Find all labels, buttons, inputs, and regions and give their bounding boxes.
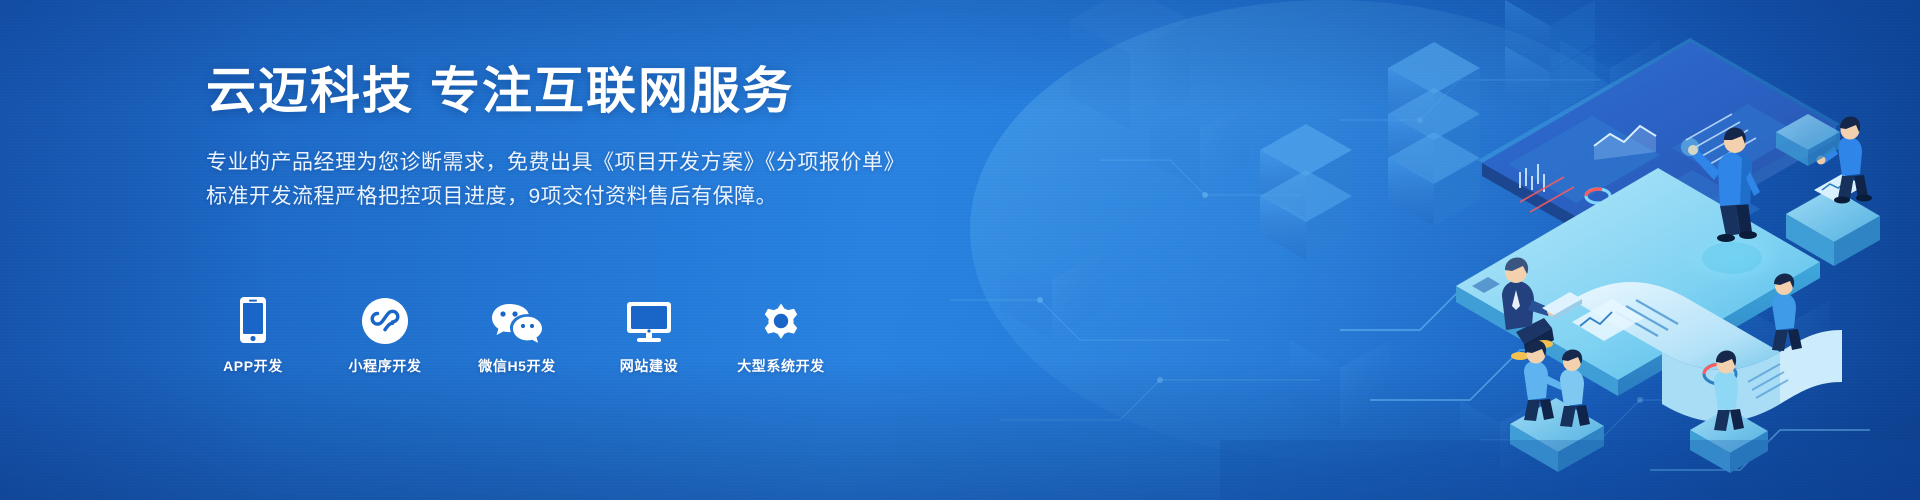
service-label: 微信H5开发 bbox=[478, 356, 556, 376]
service-item-website[interactable]: 网站建设 bbox=[599, 290, 699, 376]
page-title: 云迈科技专注互联网服务 bbox=[206, 62, 966, 120]
monitor-icon bbox=[625, 290, 673, 344]
service-label: 大型系统开发 bbox=[737, 356, 825, 376]
service-label: 小程序开发 bbox=[349, 356, 422, 376]
isometric-tech-illustration bbox=[1220, 0, 1920, 500]
subtitle-line-1: 专业的产品经理为您诊断需求，免费出具《项目开发方案》《分项报价单》 bbox=[206, 146, 966, 180]
mobile-phone-icon bbox=[237, 290, 269, 344]
headline-tagline: 专注互联网服务 bbox=[430, 63, 794, 119]
mini-program-icon bbox=[362, 290, 408, 344]
service-item-wechat-h5[interactable]: 微信H5开发 bbox=[467, 290, 567, 376]
service-item-miniprogram[interactable]: 小程序开发 bbox=[335, 290, 435, 376]
promo-banner: 云迈科技专注互联网服务 专业的产品经理为您诊断需求，免费出具《项目开发方案》《分… bbox=[0, 0, 1920, 500]
service-list: APP开发 小程序开发 bbox=[203, 290, 831, 376]
banner-subtitle: 专业的产品经理为您诊断需求，免费出具《项目开发方案》《分项报价单》 标准开发流程… bbox=[206, 146, 966, 214]
gear-icon bbox=[758, 290, 804, 344]
subtitle-line-2: 标准开发流程严格把控项目进度，9项交付资料售后有保障。 bbox=[206, 180, 966, 214]
service-label: 网站建设 bbox=[620, 356, 678, 376]
headline-brand: 云迈科技 bbox=[206, 63, 414, 119]
service-item-large-system[interactable]: 大型系统开发 bbox=[731, 290, 831, 376]
wechat-icon bbox=[490, 290, 544, 344]
service-label: APP开发 bbox=[223, 356, 283, 376]
service-item-app[interactable]: APP开发 bbox=[203, 290, 303, 376]
banner-content: 云迈科技专注互联网服务 专业的产品经理为您诊断需求，免费出具《项目开发方案》《分… bbox=[206, 62, 966, 214]
